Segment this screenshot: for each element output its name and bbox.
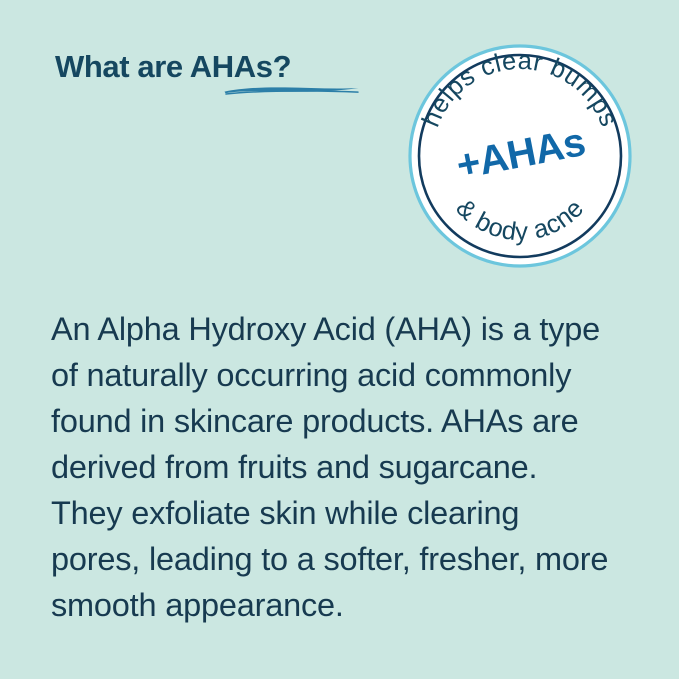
body-paragraph: An Alpha Hydroxy Acid (AHA) is a type of… bbox=[51, 306, 611, 628]
page-title: What are AHAs? bbox=[55, 48, 395, 86]
badge-center-label: +AHAs bbox=[453, 120, 589, 189]
hand-drawn-underline-icon bbox=[223, 84, 360, 98]
aha-claim-badge: helps clear bumps & body acne +AHAs bbox=[406, 42, 634, 270]
heading-block: What are AHAs? bbox=[55, 48, 395, 118]
badge-center-label-wrap: +AHAs bbox=[406, 42, 634, 270]
infographic-panel: What are AHAs? helps clear bumps & body … bbox=[0, 0, 679, 679]
